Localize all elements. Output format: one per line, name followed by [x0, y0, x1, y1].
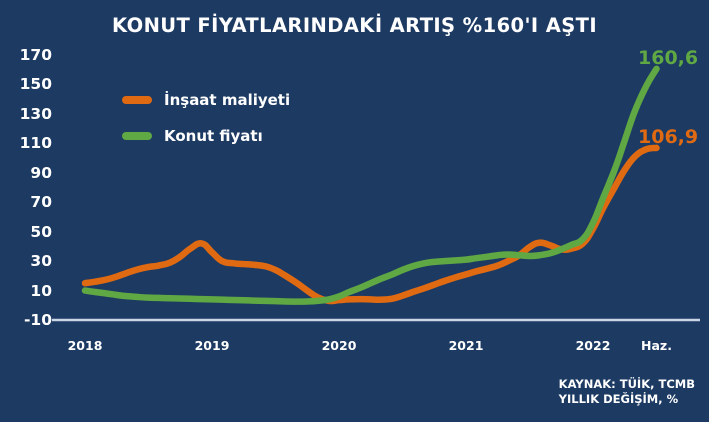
y-axis-tick-label: 30: [0, 252, 52, 270]
series-end-value-label: 106,9: [638, 126, 698, 148]
x-axis-tick-label: Haz.: [641, 338, 672, 353]
y-axis-tick-label: 70: [0, 193, 52, 211]
y-axis-tick-label: 150: [0, 75, 52, 93]
y-axis-tick-label: 90: [0, 164, 52, 182]
series-line: [85, 148, 657, 301]
y-axis-tick-label: 50: [0, 223, 52, 241]
legend-label: Konut fiyatı: [164, 127, 263, 145]
y-axis-tick-label: 10: [0, 282, 52, 300]
chart-root: KONUT FİYATLARINDAKİ ARTIŞ %160'I AŞTI 1…: [0, 0, 709, 422]
y-axis-tick-label: 110: [0, 134, 52, 152]
legend-label: İnşaat maliyeti: [164, 91, 290, 109]
x-axis-tick-label: 2019: [195, 338, 230, 353]
y-axis-tick-label: -10: [0, 311, 52, 329]
x-axis-tick-label: 2018: [68, 338, 103, 353]
legend-swatch-icon: [122, 96, 152, 104]
legend-item[interactable]: Konut fiyatı: [122, 127, 263, 145]
x-axis-tick-label: 2022: [576, 338, 611, 353]
y-axis-tick-label: 170: [0, 46, 52, 64]
legend-swatch-icon: [122, 132, 152, 140]
legend-item[interactable]: İnşaat maliyeti: [122, 91, 290, 109]
source-note: KAYNAK: TÜİK, TCMB YILLIK DEĞİŞİM, %: [559, 377, 695, 408]
x-axis-tick-label: 2020: [322, 338, 357, 353]
series-end-value-label: 160,6: [638, 47, 698, 69]
x-axis-tick-label: 2021: [449, 338, 484, 353]
y-axis-tick-label: 130: [0, 105, 52, 123]
chart-plot-area: [0, 0, 709, 422]
